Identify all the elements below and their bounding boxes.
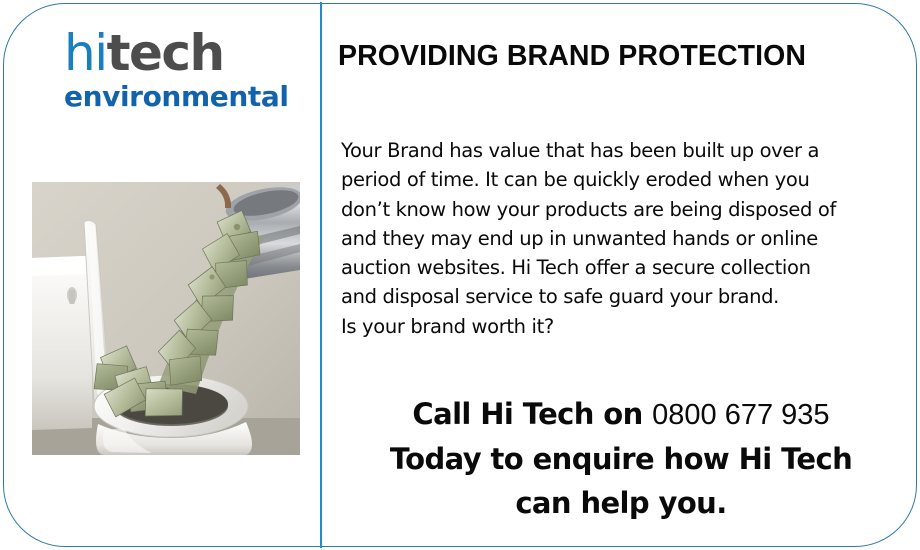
cta-line-2: Today to enquire how Hi Tech [322,437,920,481]
logo-wordmark: hitech [64,28,296,78]
money-toilet-photo [32,182,300,455]
brand-protection-flyer: hitech environmental [0,0,920,550]
body-line: period of time. It can be quickly eroded… [341,165,881,194]
logo-tech-text: tech [107,24,224,82]
body-line: don’t know how your products are being d… [341,195,881,224]
right-column: PROVIDING BRAND PROTECTION Your Brand ha… [322,0,920,550]
phone-number[interactable]: 0800 677 935 [652,399,829,431]
body-line: and they may end up in unwanted hands or… [341,224,881,253]
page-title: PROVIDING BRAND PROTECTION [338,40,806,73]
body-line: Is your brand worth it? [341,312,881,341]
photo-illustration [32,182,300,455]
logo-hi-text: hi [64,24,107,82]
body-copy: Your Brand has value that has been built… [341,136,881,341]
body-line: and disposal service to safe guard your … [341,282,881,311]
body-line: Your Brand has value that has been built… [341,136,881,165]
body-line: auction websites. Hi Tech offer a secure… [341,253,881,282]
left-column: hitech environmental [0,0,320,550]
cta-line-3: can help you. [322,481,920,525]
company-logo: hitech environmental [64,28,296,111]
cta-call-label: Call Hi Tech on [412,397,652,431]
logo-subtitle: environmental [64,83,296,111]
call-to-action: Call Hi Tech on 0800 677 935 Today to en… [322,392,920,525]
cta-line-phone: Call Hi Tech on 0800 677 935 [322,392,920,437]
